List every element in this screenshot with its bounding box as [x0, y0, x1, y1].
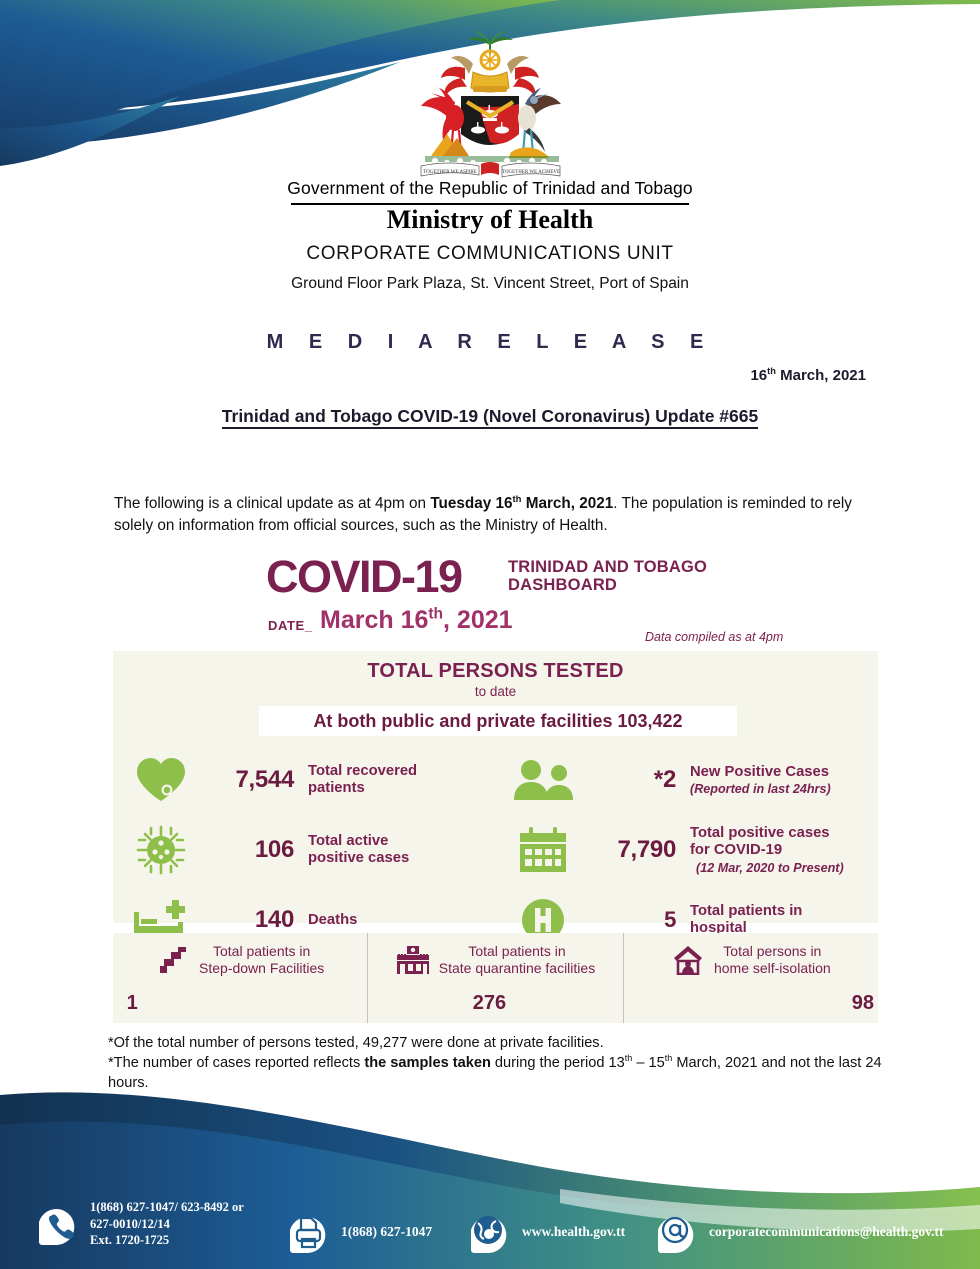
stairs-icon	[156, 943, 190, 977]
release-date: 16th March, 2021	[750, 367, 866, 384]
email-at-icon	[653, 1209, 699, 1255]
dashboard-bottom-panel: Total patients inStep-down Facilities 1 …	[113, 933, 878, 1023]
quarantine-building-icon	[396, 943, 430, 977]
dashboard-main-panel: TOTAL PERSONS TESTED to date At both pub…	[113, 651, 878, 923]
unit-address: Ground Floor Park Plaza, St. Vincent Str…	[0, 275, 980, 293]
stat-new-positive-cases: *2 New Positive Cases(Reported in last 2…	[495, 749, 877, 811]
release-title: Trinidad and Tobago COVID-19 (Novel Coro…	[0, 406, 980, 427]
stat-value: 140	[208, 906, 308, 934]
stats-row: 7,544 Total recoveredpatients *2 New Pos…	[113, 745, 878, 815]
contact-fax[interactable]: 1(868) 627-1047	[285, 1209, 432, 1255]
stat-label: Total positive casesfor COVID-19(12 Mar,…	[690, 825, 844, 874]
government-line: Government of the Republic of Trinidad a…	[0, 178, 980, 199]
contact-phone-text: 1(868) 627-1047/ 623-8492 or 627-0010/12…	[90, 1199, 244, 1249]
two-people-icon	[495, 749, 590, 811]
bottom-stat-state-quarantine: Total patients inState quarantine facili…	[367, 933, 622, 1023]
covid-brand-title: COVID-19	[266, 554, 462, 599]
stat-value: *2	[590, 766, 690, 794]
stat-label: Deaths	[308, 912, 357, 929]
stat-label: Total patients inhospital	[690, 903, 802, 936]
stat-total-active: 106 Total activepositive cases	[113, 819, 495, 881]
stat-label: New Positive Cases(Reported in last 24hr…	[690, 764, 831, 796]
dashboard-date-value: March 16th, 2021	[320, 606, 513, 635]
dashboard-subtitle: TRINIDAD AND TOBAGODASHBOARD	[508, 558, 707, 595]
dashboard-header: COVID-19 TRINIDAD AND TOBAGODASHBOARD DA…	[0, 545, 980, 650]
heart-icon	[113, 749, 208, 811]
media-release-page: TOGETHER WE ASPIRE TOGETHER WE ACHIEVE G…	[0, 0, 980, 1269]
contact-email[interactable]: corporatecommunications@health.gov.tt	[653, 1209, 944, 1255]
stat-total-recovered: 7,544 Total recoveredpatients	[113, 749, 495, 811]
phone-icon	[34, 1201, 80, 1247]
total-tested-value-box: At both public and private facilities 10…	[259, 706, 737, 736]
stat-value: 7,790	[590, 836, 690, 864]
stat-value: 106	[208, 836, 308, 864]
stats-grid: 7,544 Total recoveredpatients *2 New Pos…	[113, 745, 878, 955]
trinidad-tobago-coat-of-arms-icon: TOGETHER WE ASPIRE TOGETHER WE ACHIEVE	[403, 30, 578, 180]
calendar-icon	[495, 819, 590, 881]
contact-website-text: www.health.gov.tt	[522, 1223, 625, 1241]
footnotes: *Of the total number of persons tested, …	[108, 1033, 883, 1093]
media-release-heading: M E D I A R E L E A S E	[0, 331, 980, 354]
data-compiled-note: Data compiled as at 4pm	[645, 630, 783, 644]
bottom-stat-value: 276	[362, 992, 622, 1015]
bottom-stat-label: Total persons inhome self-isolation	[714, 943, 831, 976]
stat-value: 5	[590, 907, 690, 933]
dashboard-date-label: DATE_	[268, 618, 313, 633]
contact-website[interactable]: www.health.gov.tt	[466, 1209, 625, 1255]
total-tested-subtitle: to date	[113, 684, 878, 699]
virus-icon	[113, 819, 208, 881]
bottom-stat-value: 98	[620, 992, 878, 1015]
unit-title: CORPORATE COMMUNICATIONS UNIT	[0, 243, 980, 265]
ministry-title: Ministry of Health	[0, 205, 980, 235]
bottom-stat-value: 1	[5, 992, 367, 1015]
svg-text:TOGETHER WE ACHIEVE: TOGETHER WE ACHIEVE	[502, 170, 560, 175]
bottom-stat-step-down: Total patients inStep-down Facilities 1	[113, 933, 367, 1023]
footnote-line-2: *The number of cases reported reflects t…	[108, 1053, 883, 1093]
stat-total-positive: 7,790 Total positive casesfor COVID-19(1…	[495, 819, 877, 881]
stats-row: 106 Total activepositive cases 7,790 Tot…	[113, 815, 878, 885]
contact-email-text: corporatecommunications@health.gov.tt	[709, 1223, 944, 1241]
bottom-stat-label: Total patients inState quarantine facili…	[439, 943, 595, 976]
intro-paragraph: The following is a clinical update as at…	[114, 493, 870, 537]
svg-text:TOGETHER WE ASPIRE: TOGETHER WE ASPIRE	[423, 170, 476, 175]
bottom-stat-home-isolation: Total persons inhome self-isolation 98	[623, 933, 878, 1023]
globe-icon	[466, 1209, 512, 1255]
bottom-stat-label: Total patients inStep-down Facilities	[199, 943, 324, 976]
stat-label: Total activepositive cases	[308, 833, 409, 866]
fax-icon	[285, 1209, 331, 1255]
total-tested-title: TOTAL PERSONS TESTED	[113, 651, 878, 683]
contact-phone[interactable]: 1(868) 627-1047/ 623-8492 or 627-0010/12…	[34, 1199, 244, 1249]
home-isolation-icon	[671, 943, 705, 977]
contact-fax-text: 1(868) 627-1047	[341, 1223, 432, 1241]
contact-footer: 1(868) 627-1047/ 623-8492 or 627-0010/12…	[0, 1195, 980, 1257]
stat-value: 7,544	[208, 766, 308, 794]
footnote-line-1: *Of the total number of persons tested, …	[108, 1033, 883, 1053]
stat-label: Total recoveredpatients	[308, 763, 417, 796]
